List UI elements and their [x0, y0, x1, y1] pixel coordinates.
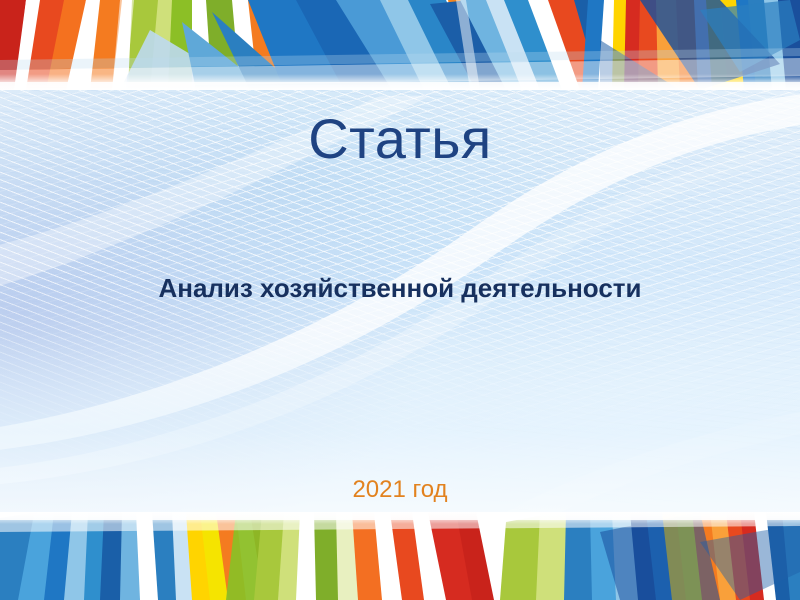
top-band-fade	[0, 74, 800, 90]
bottom-decoration-band	[0, 512, 800, 600]
slide-year: 2021 год	[0, 475, 800, 505]
presentation-slide: Статья Анализ хозяйственной деятельности…	[0, 0, 800, 600]
top-decoration-band	[0, 0, 800, 90]
bottom-shard-graphic	[0, 512, 800, 600]
bottom-band-fade	[0, 512, 800, 524]
slide-title: Статья	[0, 108, 800, 170]
slide-subtitle: Анализ хозяйственной деятельности	[0, 272, 800, 304]
